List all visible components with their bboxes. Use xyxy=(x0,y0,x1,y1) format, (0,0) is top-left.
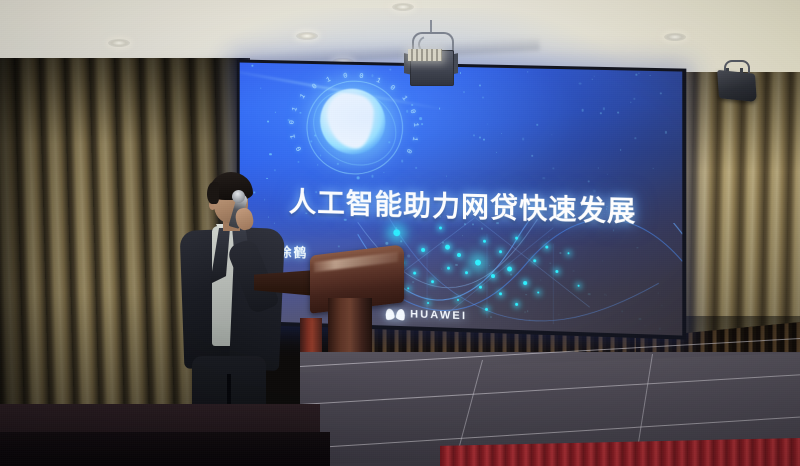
screen-particle xyxy=(460,72,462,74)
glow-dot xyxy=(491,274,495,278)
screen-particle xyxy=(634,137,636,139)
glow-dot xyxy=(567,252,569,254)
screen-particle xyxy=(649,75,651,77)
glow-dot xyxy=(499,250,502,253)
glow-dot xyxy=(393,229,400,236)
glow-dot xyxy=(515,303,518,306)
screen-particle xyxy=(522,138,525,141)
stage-light-lens xyxy=(408,49,442,61)
screen-particle xyxy=(631,101,632,102)
glow-dot xyxy=(457,299,459,301)
glow-dot xyxy=(545,246,548,249)
screen-particle xyxy=(582,109,584,111)
stage-light-fixture xyxy=(404,32,458,90)
glow-dot xyxy=(533,259,536,262)
screen-particle xyxy=(587,181,589,183)
screen-particle xyxy=(600,112,602,114)
glow-dot xyxy=(555,270,558,273)
glow-dot xyxy=(439,226,442,229)
screen-particle xyxy=(531,155,533,157)
screen-particle xyxy=(487,124,488,125)
binary-digit: 0 xyxy=(295,145,304,153)
presenter-hair-side xyxy=(207,182,219,204)
screen-particle xyxy=(483,139,485,141)
screen-particle xyxy=(633,98,635,100)
recessed-downlight xyxy=(108,39,130,47)
binary-digit: 1 xyxy=(411,122,419,127)
screen-particle xyxy=(607,174,608,175)
glow-dot xyxy=(523,281,527,285)
binary-digit: 0 xyxy=(289,119,297,124)
screen-particle xyxy=(620,149,621,150)
screen-particle xyxy=(482,96,485,99)
screen-particle xyxy=(598,167,599,168)
glow-dot xyxy=(447,267,450,270)
recessed-downlight xyxy=(296,32,318,40)
screen-particle xyxy=(338,246,340,248)
screen-particle xyxy=(542,177,545,180)
conference-photo: 0101101001010110 人工智能助力网贷快速发展 徐鹤 xyxy=(0,0,800,466)
binary-digit: 1 xyxy=(325,76,332,85)
ceiling-speaker xyxy=(714,62,758,102)
screen-particle xyxy=(389,68,391,70)
screen-particle xyxy=(659,92,661,94)
screen-particle xyxy=(260,87,261,88)
screen-particle xyxy=(653,168,654,169)
screen-particle xyxy=(536,124,538,126)
glow-dot xyxy=(485,308,488,311)
screen-particle xyxy=(252,65,254,67)
binary-digit: 0 xyxy=(403,147,412,155)
glow-dot xyxy=(483,240,486,243)
glow-dot xyxy=(499,292,502,295)
screen-particle xyxy=(446,175,447,176)
screen-particle xyxy=(594,76,595,77)
glow-dot xyxy=(457,253,461,257)
screen-particle xyxy=(591,78,592,79)
screen-particle xyxy=(603,108,605,110)
screen-particle xyxy=(463,91,465,93)
screen-particle xyxy=(496,152,497,153)
recessed-downlight xyxy=(392,3,414,11)
screen-particle xyxy=(479,84,481,86)
glow-dot xyxy=(578,285,580,287)
binary-digit: 1 xyxy=(291,105,300,112)
screen-particle xyxy=(479,137,481,139)
glow-dot xyxy=(515,237,518,240)
screen-particle xyxy=(527,71,528,72)
podium-side-panel xyxy=(254,270,316,296)
screen-particle xyxy=(665,131,668,134)
binary-digit: 1 xyxy=(375,77,382,86)
glow-dot xyxy=(507,266,512,271)
binary-digit: 0 xyxy=(342,73,348,81)
binary-digit: 1 xyxy=(409,135,418,141)
binary-digit: 1 xyxy=(290,133,299,139)
screen-particle xyxy=(552,167,554,169)
screen-particle xyxy=(638,73,639,74)
screen-particle xyxy=(551,135,552,136)
glow-dot xyxy=(479,286,482,289)
glow-dot xyxy=(445,245,450,250)
screen-particle xyxy=(473,134,475,136)
glow-dot xyxy=(475,259,481,265)
screen-particle xyxy=(501,133,502,134)
screen-particle xyxy=(275,111,276,112)
binary-digit: 0 xyxy=(388,84,397,93)
binary-digit: 0 xyxy=(359,73,365,82)
glow-dot xyxy=(465,271,468,274)
screen-particle xyxy=(267,121,269,123)
glow-dot xyxy=(537,291,539,293)
screen-particle xyxy=(617,111,619,113)
binary-digit: 1 xyxy=(299,93,308,101)
binary-digit: 0 xyxy=(407,108,416,115)
floor-left-front xyxy=(0,432,330,466)
screen-particle xyxy=(636,74,638,76)
screen-particle xyxy=(579,82,582,85)
recessed-downlight xyxy=(664,33,686,41)
screen-particle xyxy=(269,153,271,155)
